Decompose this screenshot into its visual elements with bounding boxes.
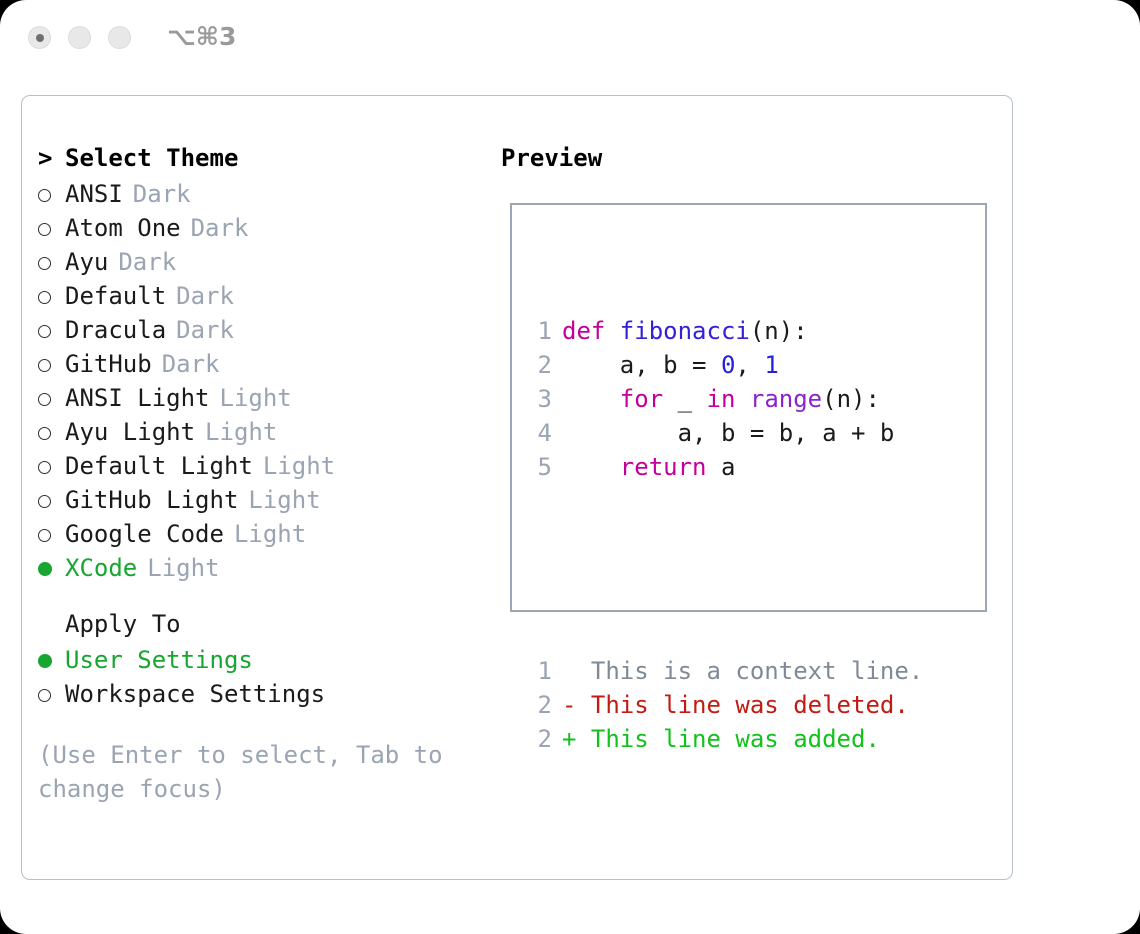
radio-dot bbox=[38, 291, 51, 304]
theme-name: Ayu Light bbox=[65, 418, 195, 446]
radio-dot bbox=[38, 495, 51, 508]
apply-to-options: User SettingsWorkspace Settings bbox=[38, 644, 488, 712]
app-window: ⌥⌘3 > Select Theme ANSI DarkAtom One Dar… bbox=[0, 0, 1140, 934]
radio-unselected-icon[interactable] bbox=[38, 246, 65, 280]
radio-unselected-icon[interactable] bbox=[38, 178, 65, 212]
gutter-gap bbox=[552, 314, 562, 348]
code-line: 2 a, b = 0, 1 bbox=[524, 348, 923, 382]
line-number: 4 bbox=[524, 416, 552, 450]
traffic-light-minimize[interactable] bbox=[68, 26, 91, 49]
theme-kind-label: Dark bbox=[176, 282, 234, 310]
theme-list-item[interactable]: Atom One Dark bbox=[38, 212, 488, 246]
theme-list-item[interactable]: GitHub Dark bbox=[38, 348, 488, 382]
radio-unselected-icon[interactable] bbox=[38, 314, 65, 348]
preview-code: 1 def fibonacci(n):2 a, b = 0, 13 for _ … bbox=[524, 246, 923, 824]
page-title: Select Theme bbox=[65, 144, 238, 172]
radio-dot bbox=[38, 689, 51, 702]
theme-list-item[interactable]: Default Dark bbox=[38, 280, 488, 314]
theme-list-item[interactable]: Default Light Light bbox=[38, 450, 488, 484]
theme-list-item[interactable]: ANSI Light Light bbox=[38, 382, 488, 416]
diff-sample: 1 This is a context line.2 - This line w… bbox=[524, 654, 923, 756]
theme-list-item[interactable]: Ayu Dark bbox=[38, 246, 488, 280]
code-token: a bbox=[707, 453, 736, 481]
radio-unselected-icon[interactable] bbox=[38, 416, 65, 450]
theme-list-item[interactable]: XCode Light bbox=[38, 552, 488, 586]
code-token: fibonacci bbox=[620, 317, 750, 345]
code-token: for bbox=[620, 385, 663, 413]
code-token: return bbox=[620, 453, 707, 481]
theme-name: GitHub bbox=[65, 350, 152, 378]
code-token: 1 bbox=[764, 351, 778, 379]
preview-column: Preview 1 def fibonacci(n):2 a, b = 0, 1… bbox=[501, 144, 1001, 172]
line-number: 2 bbox=[524, 348, 552, 382]
prompt-caret-icon: > bbox=[38, 144, 65, 172]
apply-to-option[interactable]: User Settings bbox=[38, 644, 488, 678]
diff-text: This line was deleted. bbox=[576, 691, 908, 719]
code-sample: 1 def fibonacci(n):2 a, b = 0, 13 for _ … bbox=[524, 314, 923, 484]
code-token: _ bbox=[663, 385, 706, 413]
theme-kind-label: Dark bbox=[176, 316, 234, 344]
apply-to-option-label: Workspace Settings bbox=[65, 680, 325, 708]
diff-text: This line was added. bbox=[576, 725, 879, 753]
gutter-gap bbox=[552, 348, 562, 382]
code-token bbox=[562, 453, 620, 481]
radio-dot bbox=[38, 654, 52, 668]
theme-kind-label: Light bbox=[220, 384, 292, 412]
gutter-gap bbox=[552, 688, 562, 722]
diff-line: 2 - This line was deleted. bbox=[524, 688, 923, 722]
line-number: 1 bbox=[524, 654, 552, 688]
keyboard-shortcut-label: ⌥⌘3 bbox=[167, 22, 236, 51]
section-spacer bbox=[38, 586, 488, 610]
line-number: 5 bbox=[524, 450, 552, 484]
code-token bbox=[562, 385, 620, 413]
theme-list-item[interactable]: Dracula Dark bbox=[38, 314, 488, 348]
theme-name: ANSI Light bbox=[65, 384, 210, 412]
theme-kind-label: Light bbox=[234, 520, 306, 548]
radio-dot bbox=[38, 223, 51, 236]
spacer bbox=[253, 452, 263, 480]
apply-to-option[interactable]: Workspace Settings bbox=[38, 678, 488, 712]
preview-box: 1 def fibonacci(n):2 a, b = 0, 13 for _ … bbox=[510, 203, 987, 612]
radio-unselected-icon[interactable] bbox=[38, 348, 65, 382]
main-panel: > Select Theme ANSI DarkAtom One DarkAyu… bbox=[21, 95, 1013, 880]
active-dot-indicator bbox=[36, 34, 44, 42]
code-token: def bbox=[562, 317, 620, 345]
select-theme-header: > Select Theme bbox=[38, 144, 488, 178]
radio-unselected-icon[interactable] bbox=[38, 678, 65, 712]
spacer bbox=[123, 180, 133, 208]
diff-sign bbox=[562, 657, 576, 685]
radio-unselected-icon[interactable] bbox=[38, 484, 65, 518]
keyboard-hint: (Use Enter to select, Tab to change focu… bbox=[38, 738, 458, 806]
apply-to-option-label: User Settings bbox=[65, 646, 253, 674]
theme-name: Default Light bbox=[65, 452, 253, 480]
title-bar: ⌥⌘3 bbox=[0, 0, 1140, 78]
code-line: 3 for _ in range(n): bbox=[524, 382, 923, 416]
spacer bbox=[152, 350, 162, 378]
theme-name: Ayu bbox=[65, 248, 108, 276]
radio-selected-icon[interactable] bbox=[38, 552, 65, 586]
spacer bbox=[195, 418, 205, 446]
code-token: a, b = b, a + b bbox=[562, 419, 894, 447]
radio-dot bbox=[38, 562, 52, 576]
radio-dot bbox=[38, 325, 51, 338]
gutter-gap bbox=[552, 722, 562, 756]
spacer bbox=[181, 214, 191, 242]
diff-sign: + bbox=[562, 725, 576, 753]
diff-text: This is a context line. bbox=[576, 657, 923, 685]
theme-name: Default bbox=[65, 282, 166, 310]
code-token: range bbox=[750, 385, 822, 413]
spacer bbox=[210, 384, 220, 412]
code-token: a, b = bbox=[562, 351, 721, 379]
theme-list-item[interactable]: ANSI Dark bbox=[38, 178, 488, 212]
radio-dot bbox=[38, 189, 51, 202]
diff-line: 1 This is a context line. bbox=[524, 654, 923, 688]
code-token bbox=[735, 385, 749, 413]
theme-kind-label: Dark bbox=[191, 214, 249, 242]
spacer bbox=[224, 520, 234, 548]
code-token: , bbox=[735, 351, 764, 379]
apply-to-header: Apply To bbox=[38, 610, 488, 644]
spacer bbox=[137, 554, 147, 582]
traffic-light-zoom[interactable] bbox=[108, 26, 131, 49]
radio-unselected-icon[interactable] bbox=[38, 212, 65, 246]
gutter-gap bbox=[552, 450, 562, 484]
theme-kind-label: Light bbox=[147, 554, 219, 582]
panel-columns: > Select Theme ANSI DarkAtom One DarkAyu… bbox=[22, 96, 1012, 879]
radio-dot bbox=[38, 461, 51, 474]
diff-line: 2 + This line was added. bbox=[524, 722, 923, 756]
radio-dot bbox=[38, 393, 51, 406]
theme-name: ANSI bbox=[65, 180, 123, 208]
theme-kind-label: Light bbox=[248, 486, 320, 514]
theme-picker-column: > Select Theme ANSI DarkAtom One DarkAyu… bbox=[38, 144, 488, 806]
theme-list-item[interactable]: Ayu Light Light bbox=[38, 416, 488, 450]
spacer bbox=[166, 316, 176, 344]
code-token: (n): bbox=[750, 317, 808, 345]
gutter-gap bbox=[552, 654, 562, 688]
radio-dot bbox=[38, 359, 51, 372]
radio-unselected-icon[interactable] bbox=[38, 450, 65, 484]
code-diff-separator bbox=[524, 552, 923, 586]
theme-name: Atom One bbox=[65, 214, 181, 242]
line-number: 1 bbox=[524, 314, 552, 348]
theme-name: Google Code bbox=[65, 520, 224, 548]
theme-kind-label: Dark bbox=[118, 248, 176, 276]
traffic-light-buttons bbox=[28, 26, 131, 49]
theme-name: GitHub Light bbox=[65, 486, 238, 514]
code-line: 4 a, b = b, a + b bbox=[524, 416, 923, 450]
theme-kind-label: Dark bbox=[162, 350, 220, 378]
traffic-light-close[interactable] bbox=[28, 26, 51, 49]
diff-sign: - bbox=[562, 691, 576, 719]
theme-kind-label: Dark bbox=[133, 180, 191, 208]
line-number: 3 bbox=[524, 382, 552, 416]
radio-dot bbox=[38, 529, 51, 542]
theme-name: XCode bbox=[65, 554, 137, 582]
line-number: 2 bbox=[524, 688, 552, 722]
radio-unselected-icon[interactable] bbox=[38, 382, 65, 416]
preview-title: Preview bbox=[501, 144, 1001, 172]
theme-kind-label: Light bbox=[205, 418, 277, 446]
radio-unselected-icon[interactable] bbox=[38, 518, 65, 552]
radio-dot bbox=[38, 257, 51, 270]
code-line: 5 return a bbox=[524, 450, 923, 484]
code-line: 1 def fibonacci(n): bbox=[524, 314, 923, 348]
code-token: (n): bbox=[822, 385, 880, 413]
theme-kind-label: Light bbox=[263, 452, 335, 480]
theme-list-item[interactable]: Google Code Light bbox=[38, 518, 488, 552]
spacer bbox=[108, 248, 118, 276]
code-token: in bbox=[707, 385, 736, 413]
theme-name: Dracula bbox=[65, 316, 166, 344]
theme-list-item[interactable]: GitHub Light Light bbox=[38, 484, 488, 518]
code-token: 0 bbox=[721, 351, 735, 379]
radio-unselected-icon[interactable] bbox=[38, 280, 65, 314]
radio-dot bbox=[38, 427, 51, 440]
line-number: 2 bbox=[524, 722, 552, 756]
gutter-gap bbox=[552, 382, 562, 416]
spacer bbox=[238, 486, 248, 514]
apply-to-title: Apply To bbox=[65, 610, 181, 638]
radio-selected-icon[interactable] bbox=[38, 644, 65, 678]
gutter-gap bbox=[552, 416, 562, 450]
spacer bbox=[166, 282, 176, 310]
theme-list: ANSI DarkAtom One DarkAyu DarkDefault Da… bbox=[38, 178, 488, 586]
